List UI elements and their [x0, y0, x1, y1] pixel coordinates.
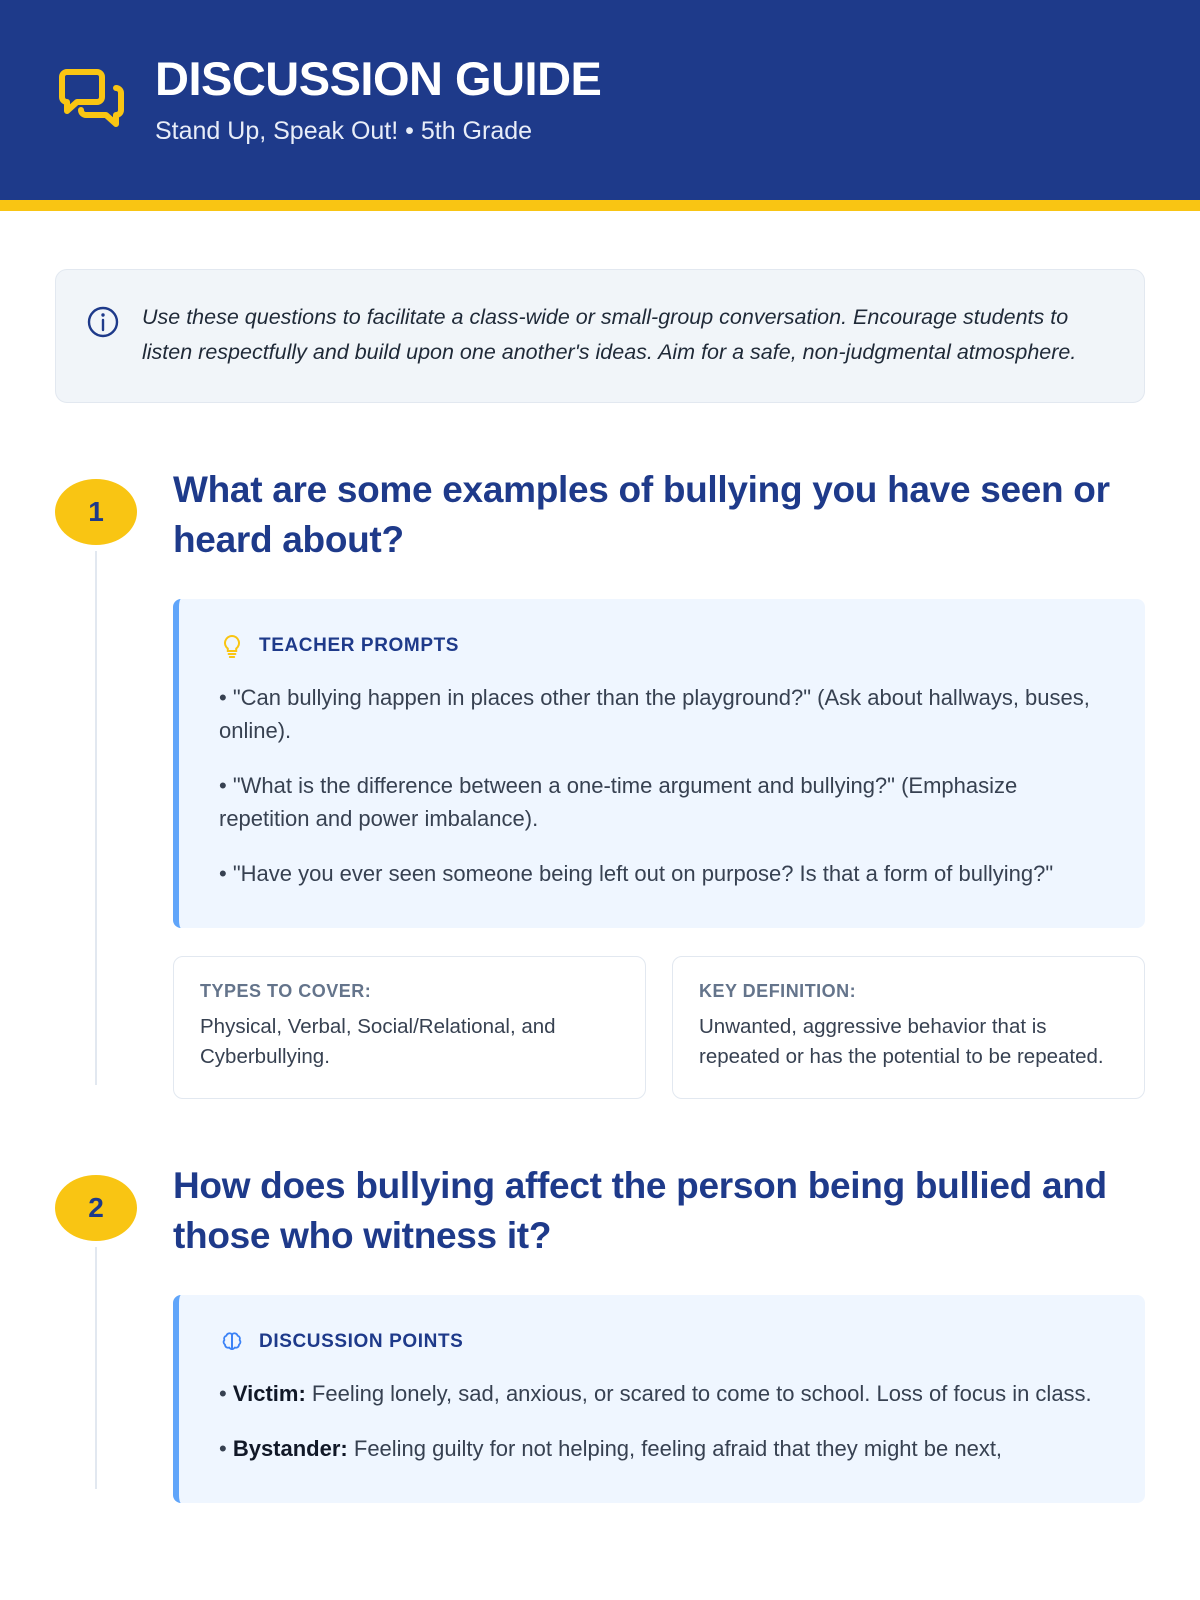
discussion-points-header: DISCUSSION POINTS — [219, 1329, 1105, 1355]
main-content: Use these questions to facilitate a clas… — [0, 211, 1200, 1503]
types-to-cover-value: Physical, Verbal, Social/Relational, and… — [200, 1012, 619, 1071]
question-number-badge-1: 1 — [55, 479, 137, 545]
teacher-prompts-header: TEACHER PROMPTS — [219, 633, 1105, 659]
discussion-guide-page: DISCUSSION GUIDE Stand Up, Speak Out! • … — [0, 0, 1200, 1600]
discussion-point-bullet: • — [219, 1381, 227, 1406]
question-number-badge-2: 2 — [55, 1175, 137, 1241]
teacher-prompt-item: • "Have you ever seen someone being left… — [219, 857, 1105, 890]
question-title-1: What are some examples of bullying you h… — [173, 465, 1133, 566]
page-header: DISCUSSION GUIDE Stand Up, Speak Out! • … — [0, 0, 1200, 200]
types-to-cover-label: TYPES TO COVER: — [200, 981, 619, 1002]
page-title: DISCUSSION GUIDE — [155, 54, 601, 103]
teacher-prompts-label: TEACHER PROMPTS — [259, 635, 459, 657]
facilitation-info-callout: Use these questions to facilitate a clas… — [55, 269, 1145, 403]
page-subtitle: Stand Up, Speak Out! • 5th Grade — [155, 116, 601, 146]
discussion-point-text: Feeling lonely, sad, anxious, or scared … — [312, 1381, 1092, 1406]
discussion-points-label: DISCUSSION POINTS — [259, 1331, 463, 1353]
header-accent-bar — [0, 200, 1200, 211]
question-block-1: 1 What are some examples of bullying you… — [55, 465, 1145, 1099]
question-rail-1 — [95, 551, 97, 1085]
question-title-2: How does bullying affect the person bein… — [173, 1161, 1133, 1262]
teacher-prompt-item: • "Can bullying happen in places other t… — [219, 681, 1105, 747]
teacher-prompts-panel: TEACHER PROMPTS • "Can bullying happen i… — [173, 599, 1145, 928]
key-definition-card: KEY DEFINITION: Unwanted, aggressive beh… — [672, 956, 1145, 1098]
discussion-point-bullet: • — [219, 1436, 227, 1461]
question-rail-2 — [95, 1247, 97, 1490]
discussion-point-item: • Victim: Feeling lonely, sad, anxious, … — [219, 1377, 1105, 1410]
discussion-point-text: Feeling guilty for not helping, feeling … — [354, 1436, 1002, 1461]
question-block-2: 2 How does bullying affect the person be… — [55, 1161, 1145, 1504]
lightbulb-icon — [219, 633, 245, 659]
teacher-prompt-item: • "What is the difference between a one-… — [219, 769, 1105, 835]
key-definition-value: Unwanted, aggressive behavior that is re… — [699, 1012, 1118, 1071]
key-definition-label: KEY DEFINITION: — [699, 981, 1118, 1002]
discussion-point-lead: Bystander: — [233, 1436, 348, 1461]
facilitation-info-text: Use these questions to facilitate a clas… — [142, 300, 1110, 370]
types-to-cover-card: TYPES TO COVER: Physical, Verbal, Social… — [173, 956, 646, 1098]
question-1-subcards: TYPES TO COVER: Physical, Verbal, Social… — [173, 956, 1145, 1098]
discussion-point-item: • Bystander: Feeling guilty for not help… — [219, 1432, 1105, 1465]
info-circle-icon — [86, 305, 120, 339]
speech-bubbles-icon — [55, 65, 129, 139]
discussion-points-panel: DISCUSSION POINTS • Victim: Feeling lone… — [173, 1295, 1145, 1503]
header-text-group: DISCUSSION GUIDE Stand Up, Speak Out! • … — [155, 54, 601, 145]
discussion-point-lead: Victim: — [233, 1381, 306, 1406]
brain-icon — [219, 1329, 245, 1355]
